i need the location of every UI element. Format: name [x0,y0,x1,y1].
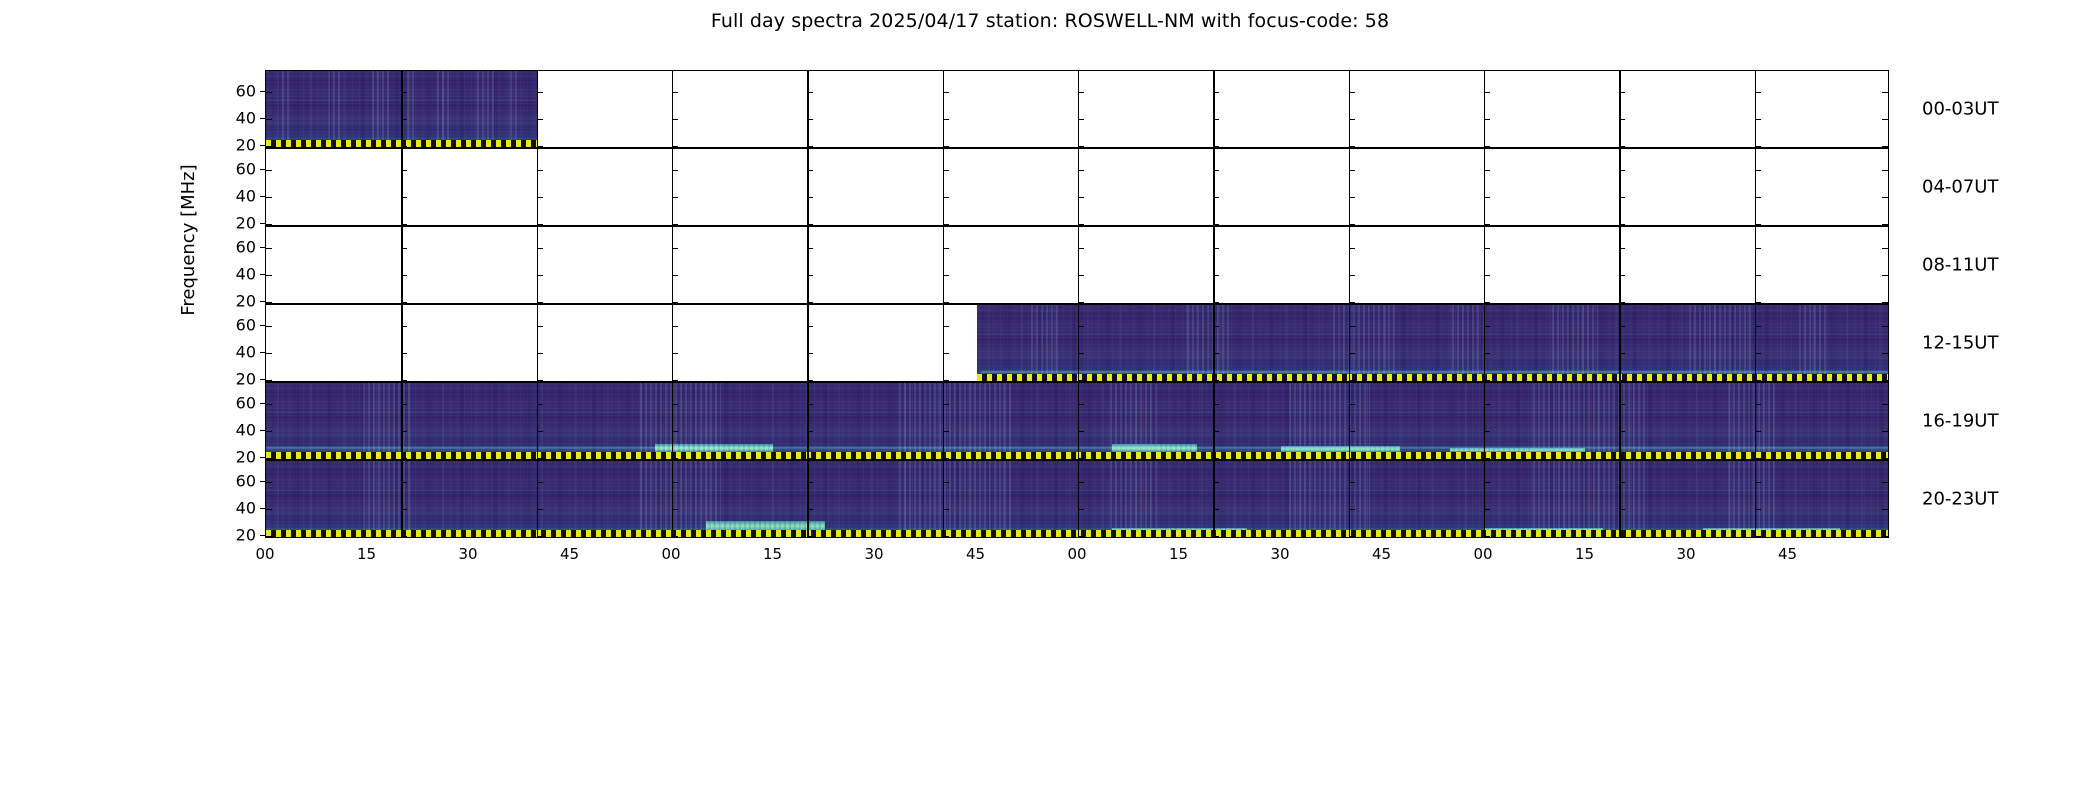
y-tick-mark [401,119,407,120]
subpanel-divider [1213,149,1214,225]
y-tick-mark-outer [260,274,265,275]
y-tick-mark [401,170,407,171]
y-tick-mark [1078,431,1084,432]
y-tick-mark [1213,92,1219,93]
subpanel-divider [1484,383,1485,459]
spectrogram-panel[interactable] [265,460,1889,538]
subpanel-divider [1619,461,1620,537]
x-tick-label: 00 [1453,545,1513,563]
y-tick-mark [1213,482,1219,483]
spectrogram-image [977,305,1890,381]
y-tick-mark [1882,509,1888,510]
subpanel-divider [672,461,673,537]
y-tick-label: 40 [236,264,256,283]
y-tick-mark [943,119,949,120]
spectrogram-streak [282,71,290,147]
y-tick-mark [1349,431,1355,432]
subpanel-divider [672,149,673,225]
y-tick-mark-outer [260,352,265,353]
spectrogram-row: 20406000-03UT [265,70,1889,148]
y-tick-mark [1882,275,1888,276]
y-tick-mark [266,326,272,327]
y-tick-mark [1882,326,1888,327]
y-tick-mark [266,431,272,432]
spectrogram-streak [363,461,412,537]
y-tick-label: 60 [236,315,256,334]
x-tick-label: 45 [1758,545,1818,563]
y-tick-mark [1882,353,1888,354]
y-tick-mark [943,275,949,276]
y-tick-mark [537,275,543,276]
y-tick-mark-outer [260,379,265,380]
x-tick-label: 30 [1656,545,1716,563]
y-tick-mark [537,404,543,405]
y-tick-mark [1484,275,1490,276]
y-tick-label: 20 [236,370,256,389]
subpanel-divider [1484,305,1485,381]
y-tick-mark [1349,509,1355,510]
y-tick-mark [266,275,272,276]
y-tick-mark [807,197,813,198]
y-tick-mark [1213,326,1219,327]
y-tick-mark [401,509,407,510]
x-tick-label: 30 [1250,545,1310,563]
y-tick-mark [537,353,543,354]
y-tick-mark [1349,92,1355,93]
y-tick-mark [1619,170,1625,171]
y-tick-mark [266,404,272,405]
row-time-label: 08-11UT [1922,255,1998,276]
x-tick-label: 00 [1047,545,1107,563]
subpanel-divider [1755,305,1756,381]
y-tick-mark-outer [260,223,265,224]
y-tick-mark [266,92,272,93]
y-tick-mark [1882,92,1888,93]
y-tick-mark [807,482,813,483]
subpanel-divider [401,461,402,537]
x-tick-label: 15 [1149,545,1209,563]
y-tick-mark [266,509,272,510]
y-tick-mark [1078,326,1084,327]
y-tick-mark [1755,326,1761,327]
y-tick-mark [1882,536,1888,537]
y-tick-mark [1755,197,1761,198]
x-tick-label: 15 [337,545,397,563]
y-tick-mark [1078,509,1084,510]
subpanel-divider [672,383,673,459]
y-tick-mark [1484,536,1490,537]
y-tick-mark-outer [260,481,265,482]
y-axis-label-text: Frequency [MHz] [178,164,199,315]
spectrogram-streak [510,71,518,147]
y-tick-mark [537,482,543,483]
subpanel-divider [807,71,808,147]
subpanel-divider [1619,383,1620,459]
y-tick-label: 60 [236,159,256,178]
y-tick-mark [1078,197,1084,198]
spectrogram-streak [1728,461,1777,537]
y-tick-mark [1213,404,1219,405]
y-tick-mark [1619,482,1625,483]
subpanel-divider [943,461,944,537]
y-tick-mark [1213,170,1219,171]
spectrogram-panel[interactable] [265,226,1889,304]
y-tick-label: 40 [236,186,256,205]
y-tick-mark [1078,275,1084,276]
y-tick-label: 40 [236,420,256,439]
spectrogram-row: 20406004-07UT [265,148,1889,226]
x-tick-label: 45 [946,545,1006,563]
y-tick-mark [1755,170,1761,171]
y-tick-mark-outer [260,118,265,119]
y-tick-label: 40 [236,498,256,517]
subpanel-divider [943,227,944,303]
subpanel-divider [943,149,944,225]
y-tick-label: 20 [236,448,256,467]
y-tick-label: 60 [236,237,256,256]
y-tick-mark [1755,482,1761,483]
y-tick-mark [943,509,949,510]
subpanel-divider [1078,305,1079,381]
y-tick-mark [672,248,678,249]
subpanel-divider [807,461,808,537]
y-tick-mark [1882,170,1888,171]
spectrogram-panel[interactable] [265,382,1889,460]
y-tick-mark [1619,431,1625,432]
y-tick-mark [807,119,813,120]
y-tick-mark [401,353,407,354]
subpanel-divider [537,149,538,225]
spectrogram-streak [328,71,342,147]
y-tick-mark [1484,197,1490,198]
spectrogram-streak [1289,461,1370,537]
y-tick-mark [266,119,272,120]
subpanel-divider [1213,461,1214,537]
y-tick-mark [401,326,407,327]
y-tick-mark [943,353,949,354]
x-tick-label: 00 [235,545,295,563]
y-tick-mark [537,536,543,537]
y-tick-mark [1484,404,1490,405]
subpanel-divider [1078,227,1079,303]
y-tick-mark [1349,119,1355,120]
y-tick-mark [943,248,949,249]
spectrogram-row: 20406016-19UT [265,382,1889,460]
y-tick-label: 60 [236,471,256,490]
subpanel-divider [1078,461,1079,537]
y-tick-label: 40 [236,108,256,127]
y-tick-mark [266,248,272,249]
subpanel-divider [1349,149,1350,225]
y-tick-mark [537,248,543,249]
y-tick-mark [1078,536,1084,537]
y-tick-mark-outer [260,403,265,404]
y-tick-mark [672,353,678,354]
y-tick-mark-outer [260,301,265,302]
y-tick-label: 20 [236,136,256,155]
spectrogram-panel[interactable] [265,148,1889,226]
y-tick-mark [1619,92,1625,93]
y-tick-mark [672,482,678,483]
subpanel-divider [807,305,808,381]
spectrogram-row: 20406020-23UT001530450015304500153045001… [265,460,1889,538]
y-tick-mark [672,536,678,537]
subpanel-divider [1755,461,1756,537]
y-tick-mark [672,509,678,510]
y-tick-mark [807,431,813,432]
y-tick-mark [537,509,543,510]
y-tick-mark [401,536,407,537]
y-tick-label: 20 [236,214,256,233]
y-tick-mark [672,119,678,120]
y-tick-mark [1882,197,1888,198]
y-tick-mark-outer [260,508,265,509]
y-tick-mark [1882,482,1888,483]
y-tick-mark [943,536,949,537]
y-tick-mark [807,92,813,93]
y-tick-mark [1619,404,1625,405]
y-tick-mark [1349,170,1355,171]
y-tick-mark [943,326,949,327]
y-tick-mark [1213,536,1219,537]
subpanel-divider [1755,71,1756,147]
subpanel-divider [807,227,808,303]
subpanel-divider [1484,149,1485,225]
subpanel-divider [537,461,538,537]
subpanel-divider [401,305,402,381]
y-tick-mark-outer [260,457,265,458]
y-tick-mark [672,170,678,171]
y-tick-mark [1755,92,1761,93]
y-tick-mark [807,404,813,405]
y-tick-mark [537,170,543,171]
subpanel-divider [1619,71,1620,147]
y-tick-mark-outer [260,325,265,326]
subpanel-divider [672,227,673,303]
y-tick-mark [1349,482,1355,483]
subpanel-divider [1213,227,1214,303]
y-tick-mark [1484,431,1490,432]
subpanel-divider [401,383,402,459]
y-tick-mark [401,404,407,405]
y-tick-mark [1755,404,1761,405]
row-time-label: 12-15UT [1922,333,1998,354]
y-tick-mark [1213,197,1219,198]
x-tick-label: 00 [641,545,701,563]
y-tick-mark [266,197,272,198]
y-tick-mark [1882,404,1888,405]
y-tick-mark [1484,92,1490,93]
spectrogram-streak [899,461,1013,537]
subpanel-divider [943,305,944,381]
row-time-label: 00-03UT [1922,99,1998,120]
subpanel-divider [1484,227,1485,303]
y-tick-mark [1484,119,1490,120]
subpanel-divider [1349,227,1350,303]
y-tick-mark [1078,353,1084,354]
y-tick-mark [1755,119,1761,120]
y-tick-mark [1484,326,1490,327]
y-tick-mark [672,92,678,93]
y-tick-mark [1755,353,1761,354]
y-tick-mark [1484,509,1490,510]
y-tick-mark [1619,197,1625,198]
y-tick-mark [807,170,813,171]
spectrogram-row: 20406012-15UT [265,304,1889,382]
x-tick-label: 30 [844,545,904,563]
y-tick-mark [807,326,813,327]
y-tick-mark [1484,353,1490,354]
y-tick-mark [1755,509,1761,510]
y-tick-mark [943,170,949,171]
y-axis-label: Frequency [MHz] [178,0,199,240]
y-tick-mark [1213,275,1219,276]
subpanel-divider [1349,305,1350,381]
row-time-label: 16-19UT [1922,411,1998,432]
y-tick-mark [1349,326,1355,327]
y-tick-mark [1619,536,1625,537]
y-tick-mark-outer [260,145,265,146]
y-tick-mark [1349,404,1355,405]
subpanel-divider [1349,461,1350,537]
y-tick-mark [1484,170,1490,171]
subpanel-divider [1078,71,1079,147]
subpanel-divider [807,149,808,225]
subpanel-divider [1755,383,1756,459]
y-tick-mark [807,275,813,276]
subpanel-divider [1213,383,1214,459]
subpanel-divider [537,305,538,381]
subpanel-divider [1349,383,1350,459]
subpanel-divider [537,227,538,303]
y-tick-mark [672,275,678,276]
y-tick-mark [1213,431,1219,432]
subpanel-divider [537,383,538,459]
y-tick-mark [1882,119,1888,120]
subpanel-divider [1755,149,1756,225]
row-time-label: 20-23UT [1922,489,1998,510]
spectrogram-streak [1533,461,1647,537]
y-tick-mark [1213,353,1219,354]
y-tick-mark [537,92,543,93]
y-tick-mark [1484,248,1490,249]
y-tick-label: 60 [236,81,256,100]
subpanel-divider [672,305,673,381]
y-tick-mark [401,431,407,432]
figure-title: Full day spectra 2025/04/17 station: ROS… [0,10,2100,32]
y-tick-mark [401,197,407,198]
y-tick-mark [537,431,543,432]
y-tick-mark [1349,275,1355,276]
y-tick-mark [266,353,272,354]
y-tick-mark [943,404,949,405]
y-tick-mark-outer [260,535,265,536]
y-tick-mark [1755,248,1761,249]
y-tick-label: 20 [236,526,256,545]
y-tick-mark [1882,248,1888,249]
y-tick-mark-outer [260,430,265,431]
y-tick-mark [1349,248,1355,249]
subpanel-divider [943,71,944,147]
subpanel-divider [1619,149,1620,225]
y-tick-mark [672,404,678,405]
y-tick-mark [672,197,678,198]
y-tick-mark [1755,275,1761,276]
y-tick-label: 60 [236,393,256,412]
x-tick-label: 15 [743,545,803,563]
subpanel-divider [401,71,402,147]
y-tick-mark [807,509,813,510]
y-tick-mark [266,536,272,537]
subpanel-divider [1755,227,1756,303]
y-tick-mark [807,536,813,537]
y-tick-mark [672,326,678,327]
y-tick-mark [1619,119,1625,120]
y-tick-mark [1349,197,1355,198]
spectrogram-streak [477,71,496,147]
y-tick-label: 20 [236,292,256,311]
x-tick-label: 45 [1352,545,1412,563]
y-tick-mark [1078,119,1084,120]
y-tick-mark [1619,509,1625,510]
spectrogram-row: 20406008-11UT [265,226,1889,304]
bright-emission-band [1281,446,1400,451]
y-tick-mark [1882,431,1888,432]
spectrogram-panel[interactable] [265,304,1889,382]
y-tick-mark [807,248,813,249]
y-tick-mark [401,92,407,93]
y-tick-mark [1078,482,1084,483]
baseline-dash-marker [977,374,1890,381]
y-tick-mark-outer [260,247,265,248]
y-tick-mark [807,353,813,354]
y-tick-mark [266,482,272,483]
x-tick-label: 30 [438,545,498,563]
subpanel-divider [1484,461,1485,537]
y-tick-mark [672,431,678,432]
y-tick-mark [943,482,949,483]
y-tick-mark-outer [260,196,265,197]
spectrogram-figure: Full day spectra 2025/04/17 station: ROS… [0,0,2100,800]
subpanel-divider [1213,305,1214,381]
y-tick-mark [1213,119,1219,120]
y-tick-mark [1213,248,1219,249]
spectrogram-streak [1110,461,1159,537]
x-tick-label: 45 [540,545,600,563]
subpanel-divider [1213,71,1214,147]
y-tick-mark [1619,275,1625,276]
x-tick-label: 15 [1555,545,1615,563]
spectrogram-panel[interactable] [265,70,1889,148]
y-tick-mark [1619,326,1625,327]
subpanel-divider [1349,71,1350,147]
subpanel-divider [537,71,538,147]
y-tick-mark [943,92,949,93]
y-tick-mark-outer [260,91,265,92]
y-tick-mark [401,275,407,276]
y-tick-mark [1213,509,1219,510]
y-tick-mark [1078,170,1084,171]
y-tick-mark [1755,536,1761,537]
y-tick-mark [943,197,949,198]
y-tick-mark [266,170,272,171]
subpanel-divider [1619,227,1620,303]
y-tick-mark [1619,248,1625,249]
y-tick-mark [1755,431,1761,432]
y-tick-mark [401,248,407,249]
y-tick-mark [1078,404,1084,405]
subpanel-divider [401,149,402,225]
